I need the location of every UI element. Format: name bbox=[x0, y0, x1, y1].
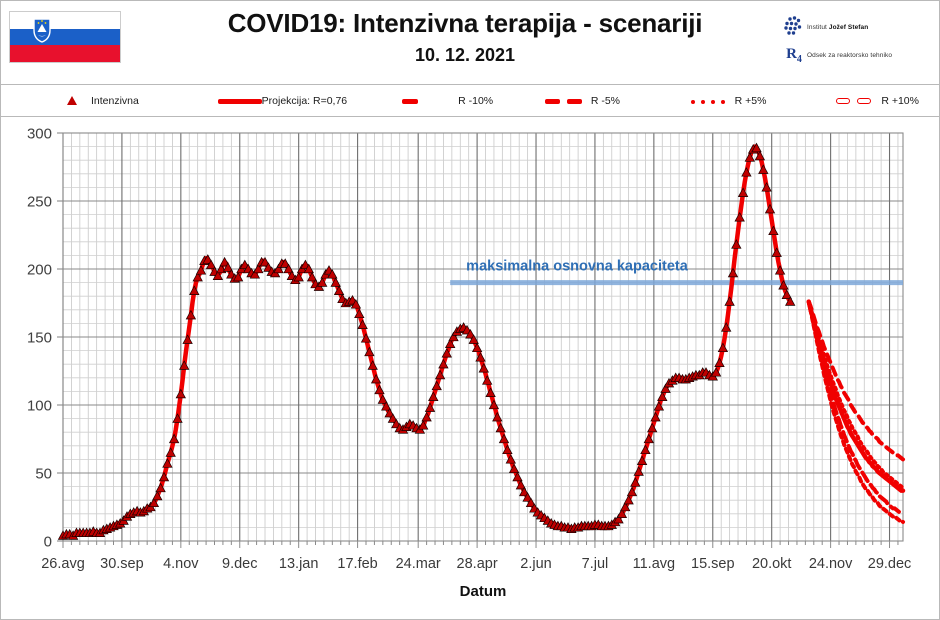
logo-row-ijs: Institut Jožef Stefan bbox=[781, 13, 933, 41]
ijs-prefix: Institut bbox=[807, 24, 829, 31]
x-axis-tick-label: 26.avg bbox=[41, 556, 85, 572]
y-axis-tick-label: 250 bbox=[27, 194, 52, 211]
institute-logo: Institut Jožef Stefan R4 Odsek za reakto… bbox=[781, 13, 933, 71]
legend-item-r-plus-5[interactable]: R +5% bbox=[689, 95, 836, 107]
chart-page: COVID19: Intenzivna terapija - scenariji… bbox=[0, 0, 940, 620]
capacity-annotation-label: maksimalna osnovna kapaciteta bbox=[466, 259, 689, 275]
x-axis-tick-label: 13.jan bbox=[279, 556, 319, 572]
y-axis-tick-label: 150 bbox=[27, 330, 52, 347]
ijs-dots-icon bbox=[781, 14, 807, 40]
hollow-dash-marker-icon bbox=[835, 95, 879, 107]
ijs-bold: Jožef Stefan bbox=[829, 24, 869, 31]
long-dash-marker-icon bbox=[545, 95, 589, 107]
x-axis-tick-label: 11.avg bbox=[633, 556, 675, 572]
legend-label-2: R -10% bbox=[458, 95, 493, 107]
short-dash-marker-icon bbox=[396, 95, 440, 107]
x-axis-tick-label: 30.sep bbox=[100, 556, 144, 572]
x-axis-tick-label: 20.okt bbox=[752, 556, 792, 572]
x-axis-tick-label: 7.jul bbox=[582, 556, 609, 572]
legend-item-intenzivna[interactable]: Intenzivna bbox=[59, 95, 218, 107]
legend-label-5: R +10% bbox=[881, 95, 919, 107]
covid-icu-chart: maksimalna osnovna kapaciteta05010015020… bbox=[1, 117, 940, 620]
x-axis-tick-label: 4.nov bbox=[163, 556, 199, 572]
legend-label-0: Intenzivna bbox=[91, 95, 139, 107]
flag-stripe-blue bbox=[10, 29, 120, 46]
y-axis-tick-label: 300 bbox=[27, 126, 52, 143]
legend-item-r-minus-10[interactable]: R -10% bbox=[396, 95, 545, 107]
x-axis-tick-label: 17.feb bbox=[337, 556, 377, 572]
legend-label-4: R +5% bbox=[735, 95, 767, 107]
y-axis-tick-label: 0 bbox=[44, 534, 52, 551]
legend-item-r-plus-10[interactable]: R +10% bbox=[835, 95, 919, 107]
chart-legend: Intenzivna Projekcija: R=0,76 R -10% R -… bbox=[1, 85, 939, 117]
dotted-marker-icon bbox=[689, 95, 733, 107]
legend-label-3: R -5% bbox=[591, 95, 620, 107]
page-header: COVID19: Intenzivna terapija - scenariji… bbox=[1, 1, 939, 85]
legend-item-projekcija[interactable]: Projekcija: R=0,76 bbox=[218, 95, 396, 107]
y-axis-tick-label: 200 bbox=[27, 262, 52, 279]
x-axis-tick-label: 29.dec bbox=[868, 556, 912, 572]
x-axis-tick-label: 2.jun bbox=[520, 556, 551, 572]
solid-line-marker-icon bbox=[218, 95, 262, 107]
flag-stripe-red bbox=[10, 45, 120, 62]
triangle-marker-icon bbox=[59, 95, 85, 107]
r4-letter: R bbox=[786, 46, 797, 62]
slovenia-crest-icon bbox=[32, 17, 52, 43]
page-title: COVID19: Intenzivna terapija - scenariji bbox=[151, 9, 779, 39]
r4-subscript: 4 bbox=[797, 54, 802, 65]
y-axis-tick-label: 50 bbox=[35, 466, 52, 483]
logo-row-r4: R4 Odsek za reaktorsko tehniko bbox=[781, 41, 933, 69]
x-axis-tick-label: 24.mar bbox=[396, 556, 441, 572]
title-block: COVID19: Intenzivna terapija - scenariji… bbox=[151, 9, 779, 66]
x-axis-tick-label: 9.dec bbox=[222, 556, 257, 572]
legend-items: Intenzivna Projekcija: R=0,76 R -10% R -… bbox=[59, 85, 919, 116]
x-axis-title: Datum bbox=[460, 583, 507, 600]
flag-stripe-white bbox=[10, 12, 120, 29]
x-axis-tick-label: 24.nov bbox=[809, 556, 853, 572]
department-text: Odsek za reaktorsko tehniko bbox=[807, 52, 892, 59]
y-axis-tick-label: 100 bbox=[27, 398, 52, 415]
page-date: 10. 12. 2021 bbox=[151, 45, 779, 66]
r4-icon: R4 bbox=[781, 46, 807, 65]
chart-plot-area: maksimalna osnovna kapaciteta05010015020… bbox=[1, 117, 939, 620]
x-axis-tick-label: 28.apr bbox=[457, 556, 498, 572]
slovenia-flag-icon bbox=[9, 11, 121, 63]
legend-item-r-minus-5[interactable]: R -5% bbox=[545, 95, 689, 107]
x-axis-tick-label: 15.sep bbox=[691, 556, 735, 572]
legend-label-1: Projekcija: R=0,76 bbox=[262, 95, 348, 107]
ijs-logo-text: Institut Jožef Stefan bbox=[807, 24, 868, 31]
